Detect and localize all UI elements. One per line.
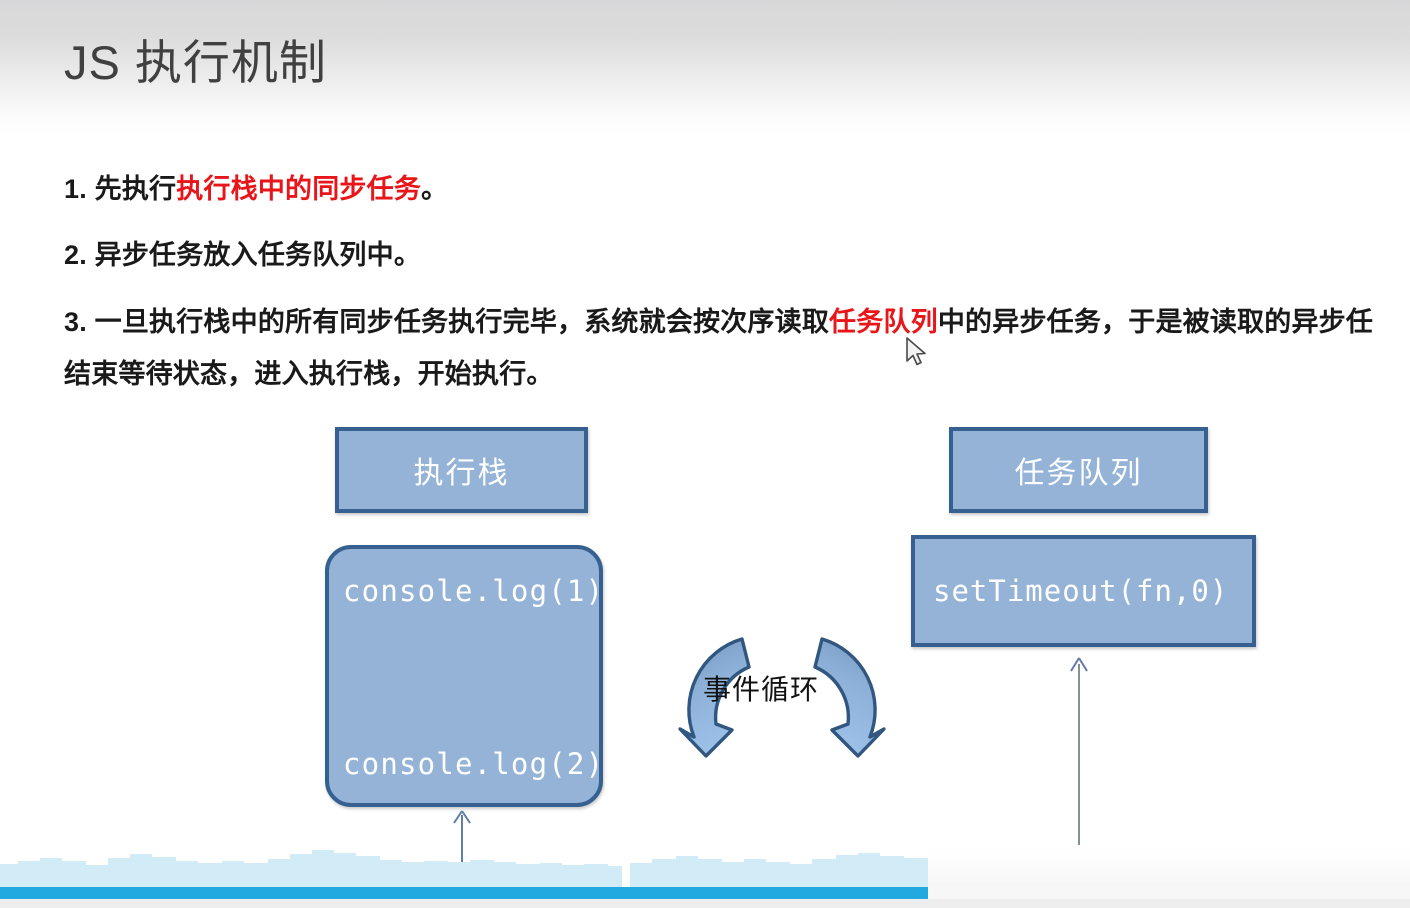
player-footer-strip [0,899,1410,908]
waveform-shape [0,845,928,887]
call-stack-body-box: console.log(1) console.log(2) [325,545,603,807]
waveform-notch [622,845,630,887]
queue-code-line: setTimeout(fn,0) [933,574,1228,608]
event-loop-right-arrow [815,639,884,756]
progress-played[interactable] [0,887,928,899]
emergency-lane-arrow [1067,654,1093,864]
slide-screenshot: JS 执行机制 1. 先执行执行栈中的同步任务。 2. 异步任务放入任务队列中。… [0,0,1410,908]
call-stack-title-box: 执行栈 [335,427,588,513]
event-loop-label: 事件循环 [703,668,819,708]
progress-waveform [0,845,928,887]
video-progress-bar[interactable] [0,845,1410,908]
stack-code-line-1: console.log(1) [343,574,604,608]
stack-code-line-2: console.log(2) [343,747,604,781]
call-stack-title-label: 执行栈 [414,448,510,492]
task-queue-title-box: 任务队列 [949,427,1208,513]
mouse-cursor [905,337,931,371]
event-loop-diagram: 执行栈 任务队列 console.log(1) console.log(2) s… [0,0,1410,908]
event-loop-arrows [650,620,910,800]
progress-track-remaining-bg [928,845,1410,887]
task-queue-title-label: 任务队列 [1015,448,1143,492]
progress-track-remaining[interactable] [928,887,1410,899]
task-queue-body-box: setTimeout(fn,0) [911,535,1256,647]
